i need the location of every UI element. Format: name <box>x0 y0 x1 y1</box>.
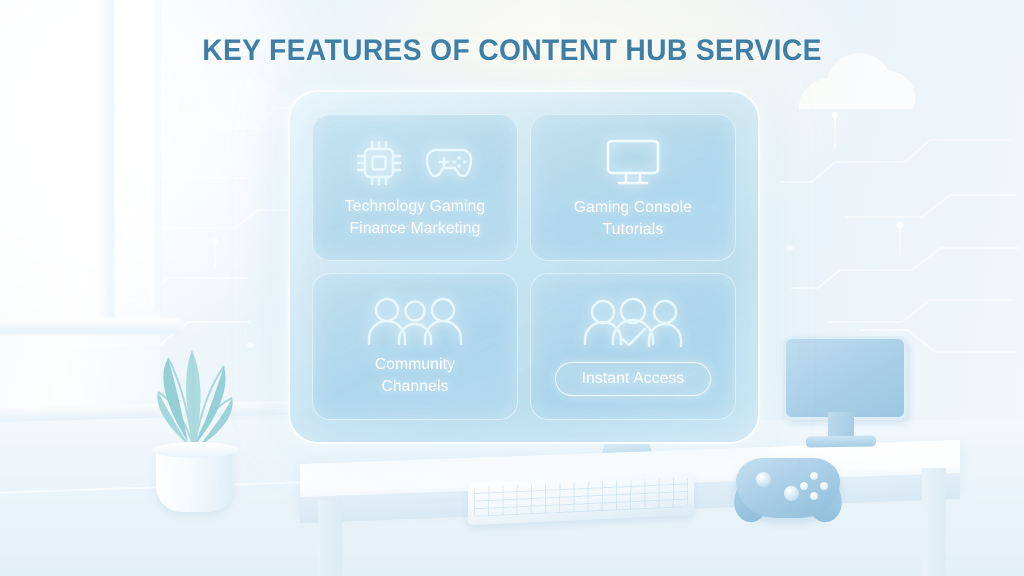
topics-card-text: Technology Gaming Finance Marketing <box>337 196 493 240</box>
controller-button-x <box>800 482 808 490</box>
community-card[interactable]: Community Channels <box>312 273 518 420</box>
topics-card[interactable]: Technology Gaming Finance Marketing <box>312 114 518 261</box>
game-controller[interactable] <box>736 458 840 518</box>
tutorials-card-line2: Tutorials <box>574 219 692 241</box>
controller-button-b <box>820 482 828 490</box>
community-card-line2: Channels <box>375 376 455 398</box>
instant-access-card[interactable]: Instant Access <box>530 273 736 420</box>
community-card-text: Community Channels <box>367 354 463 398</box>
tutorials-card-icons <box>600 135 666 191</box>
people-group-icon <box>361 296 469 348</box>
topics-card-line1: Technology Gaming <box>345 198 485 215</box>
tutorials-card-line1: Gaming Console <box>574 199 692 216</box>
plant-pot-rim <box>152 442 238 458</box>
scene: KEY FEATURES OF CONTENT HUB SERVICE <box>0 0 1024 576</box>
topics-card-line2: Finance Marketing <box>345 218 485 240</box>
keyboard-keys <box>474 477 688 517</box>
potted-plant <box>128 300 258 490</box>
controller-stick-left <box>756 472 771 487</box>
page-title: KEY FEATURES OF CONTENT HUB SERVICE <box>31 34 994 68</box>
controller-button-a <box>810 472 818 480</box>
controller-button-y <box>810 492 818 500</box>
second-monitor-neck <box>828 412 854 438</box>
controller-stick-right <box>784 486 799 501</box>
monitor-icon <box>600 135 666 191</box>
feature-panel: Technology Gaming Finance Marketing Gami… <box>288 90 760 444</box>
chip-icon <box>352 136 406 190</box>
people-check-icon <box>577 298 689 352</box>
community-card-icons <box>361 296 469 348</box>
second-monitor-base <box>806 435 876 447</box>
second-monitor[interactable] <box>783 336 907 420</box>
instant-access-card-icons <box>577 298 689 352</box>
desk-leg-left <box>318 500 342 576</box>
tutorials-card-text: Gaming Console Tutorials <box>566 197 700 241</box>
desk-leg-right <box>922 468 946 576</box>
tutorials-card[interactable]: Gaming Console Tutorials <box>530 114 736 261</box>
community-card-line1: Community <box>375 356 455 373</box>
topics-card-icons <box>352 136 478 190</box>
instant-access-button[interactable]: Instant Access <box>555 362 712 396</box>
gamepad-icon <box>420 136 478 190</box>
